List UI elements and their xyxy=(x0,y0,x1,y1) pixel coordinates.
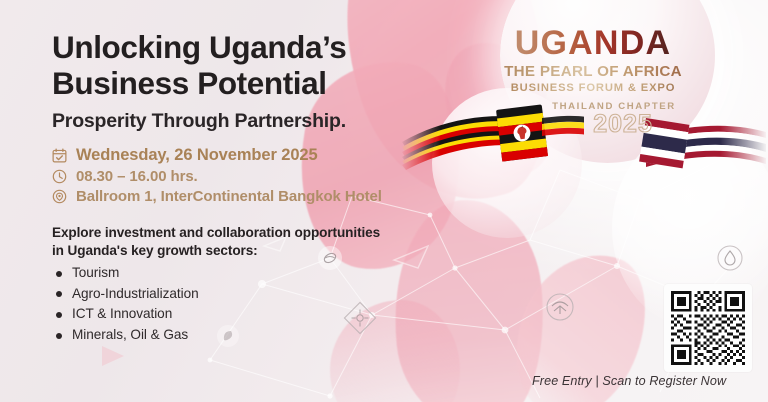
sectors-lead-line-1: Explore investment and collaboration opp… xyxy=(52,224,482,242)
calendar-check-icon xyxy=(52,148,67,163)
event-time: 08.30 – 16.00 hrs. xyxy=(76,168,198,185)
location-pin-icon xyxy=(52,189,67,204)
event-banner: Unlocking Uganda’s Business Potential Pr… xyxy=(0,0,768,402)
sector-list: Tourism Agro-Industrialization ICT & Inn… xyxy=(52,263,482,346)
event-venue: Ballroom 1, InterContinental Bangkok Hot… xyxy=(76,188,382,205)
logo-year: 2025 xyxy=(547,112,699,137)
clock-icon xyxy=(52,169,67,184)
footer-note: Free Entry | Scan to Register Now xyxy=(532,374,726,388)
event-logo: UGANDA THE PEARL OF AFRICA BUSINESS FORU… xyxy=(487,26,699,137)
sectors-lead-line-2: in Uganda's key growth sectors: xyxy=(52,242,482,260)
detail-row-time: 08.30 – 16.00 hrs. xyxy=(52,168,482,185)
detail-row-venue: Ballroom 1, InterContinental Bangkok Hot… xyxy=(52,188,482,205)
headline-line-2: Business Potential xyxy=(52,66,482,102)
event-details: Wednesday, 26 November 2025 08.30 – 16.0… xyxy=(52,146,482,205)
list-item: Tourism xyxy=(52,263,482,284)
banner-content: Unlocking Uganda’s Business Potential Pr… xyxy=(52,30,482,346)
logo-tagline: THE PEARL OF AFRICA xyxy=(487,63,699,80)
logo-wordmark: UGANDA xyxy=(487,26,699,60)
list-item: Agro-Industrialization xyxy=(52,284,482,305)
sectors-lead: Explore investment and collaboration opp… xyxy=(52,224,482,260)
sectors-block: Explore investment and collaboration opp… xyxy=(52,224,482,346)
page-title: Unlocking Uganda’s Business Potential xyxy=(52,30,482,101)
list-item: Minerals, Oil & Gas xyxy=(52,325,482,346)
detail-row-date: Wednesday, 26 November 2025 xyxy=(52,146,482,165)
qr-code[interactable] xyxy=(664,284,752,372)
subheadline: Prosperity Through Partnership. xyxy=(52,110,482,133)
qr-code-image xyxy=(671,291,745,365)
event-date: Wednesday, 26 November 2025 xyxy=(76,146,318,165)
headline-line-1: Unlocking Uganda’s xyxy=(52,30,482,66)
list-item: ICT & Innovation xyxy=(52,304,482,325)
logo-subtitle: BUSINESS FORUM & EXPO xyxy=(487,82,699,94)
